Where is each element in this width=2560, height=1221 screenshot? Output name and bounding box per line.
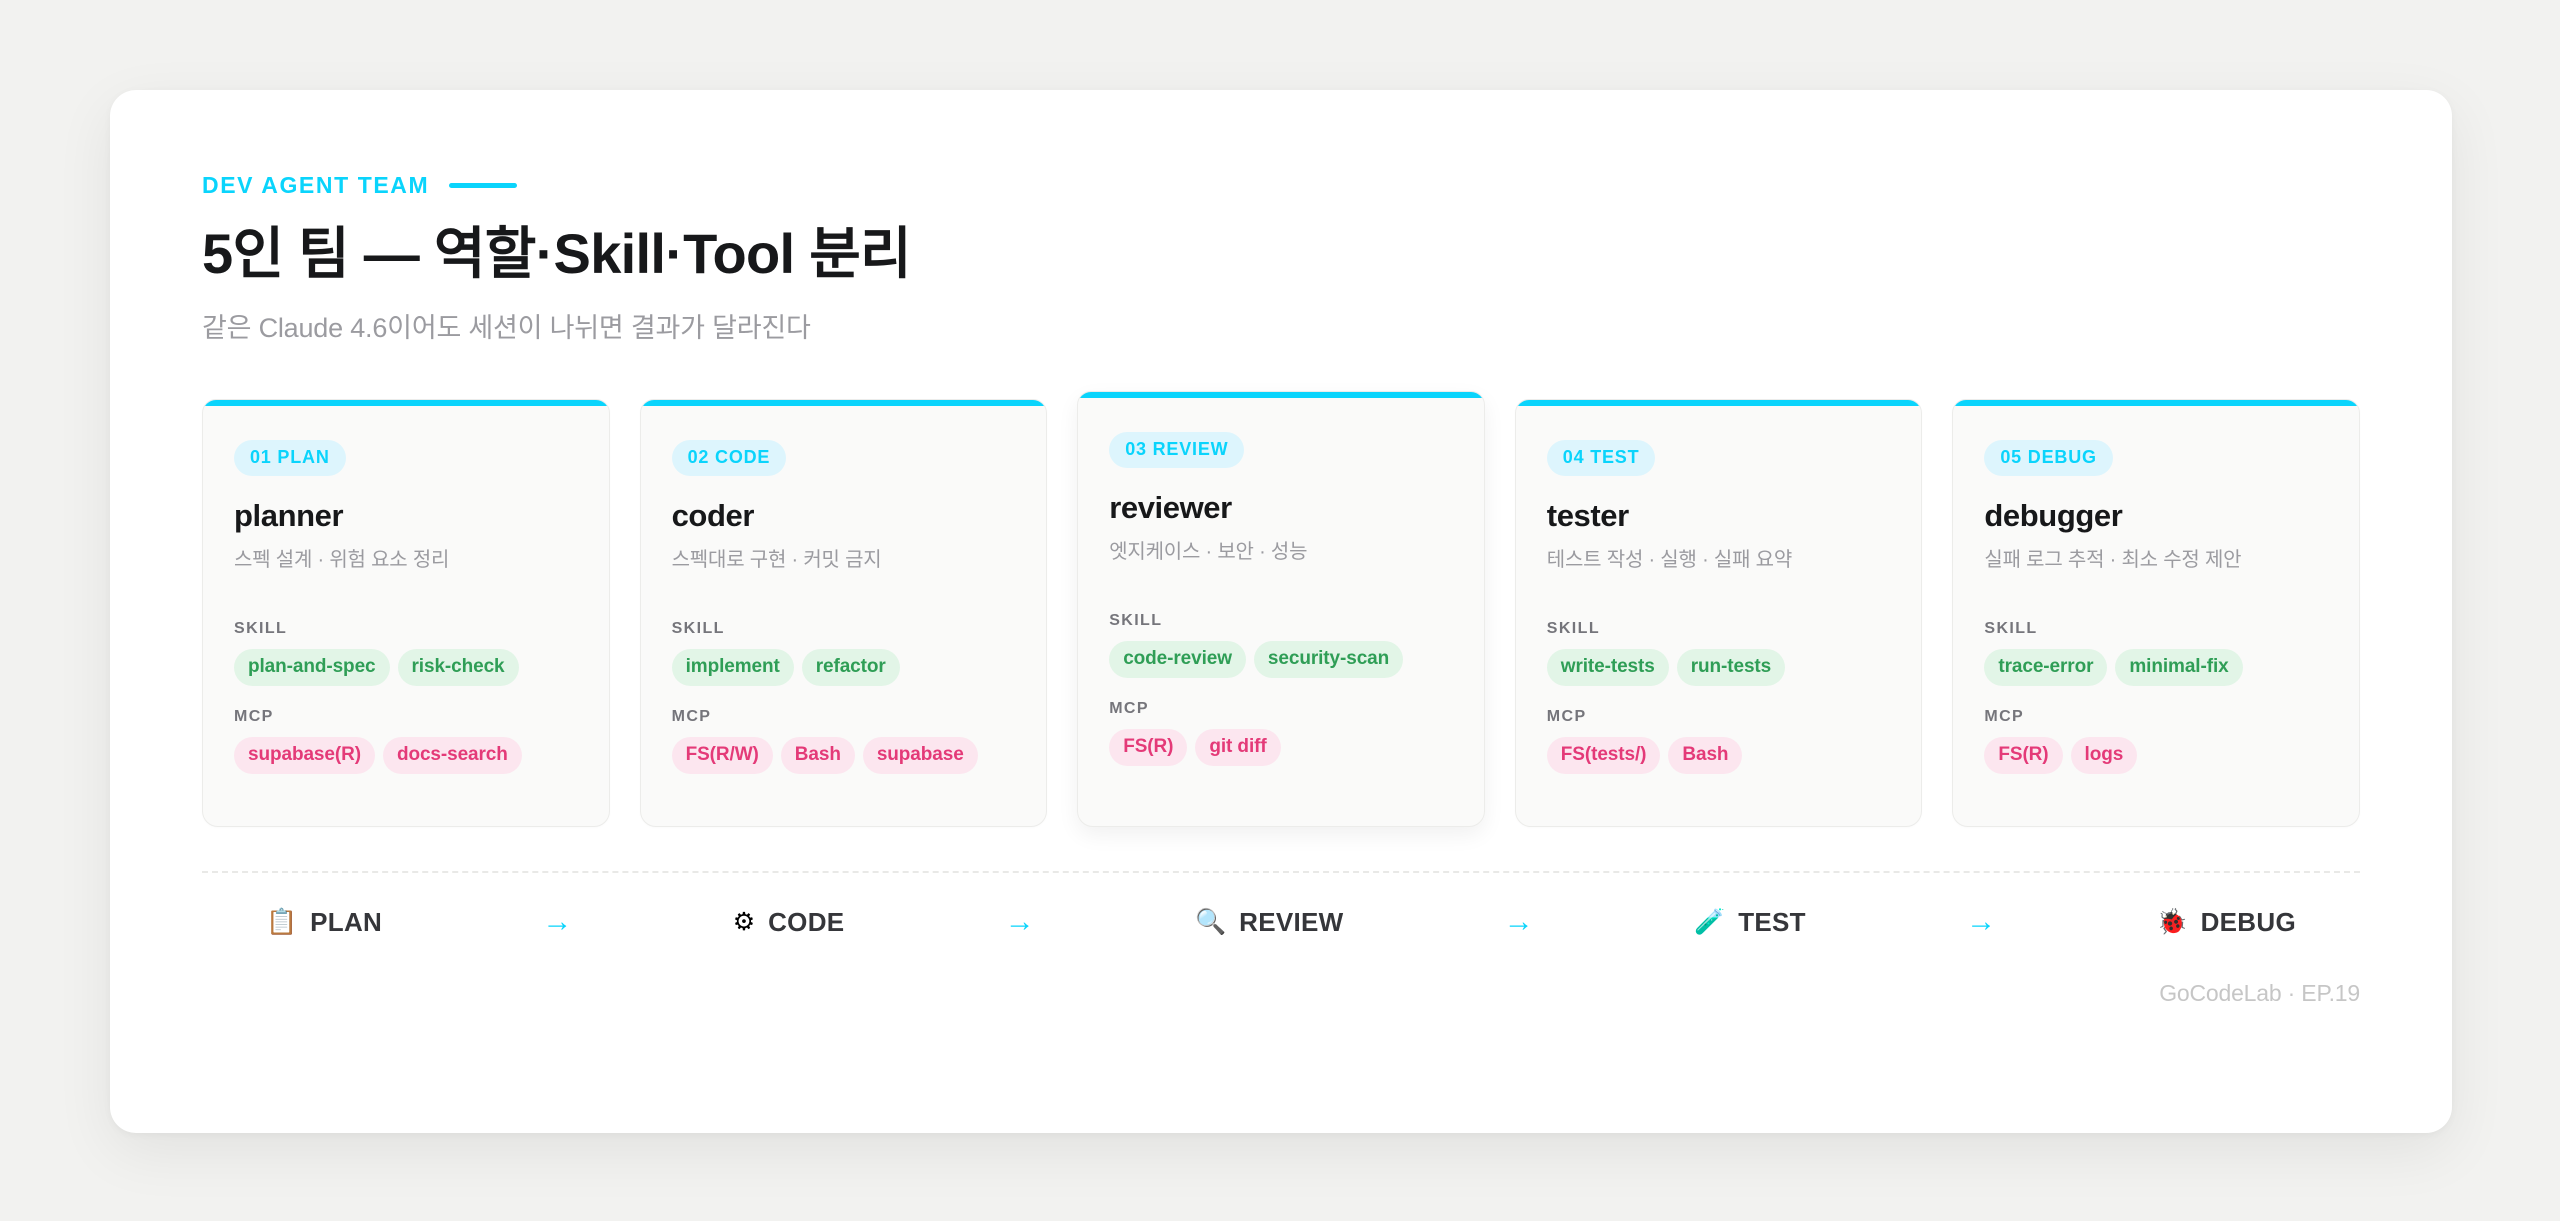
flow-step-debug[interactable]: 🐞 DEBUG (2156, 907, 2296, 938)
skill-section-label: SKILL (234, 620, 578, 638)
mcp-chip-group: FS(R) logs (1984, 737, 2328, 774)
card-badge: 04 TEST (1547, 440, 1656, 476)
mcp-chip[interactable]: FS(tests/) (1547, 737, 1661, 774)
arrow-right-icon: → (542, 907, 572, 937)
skill-chip-group: code-review security-scan (1109, 641, 1453, 678)
skill-chip-group: plan-and-spec risk-check (234, 649, 578, 686)
skill-section-label: SKILL (1984, 620, 2328, 638)
skill-chip-group: trace-error minimal-fix (1984, 649, 2328, 686)
skill-chip[interactable]: trace-error (1984, 649, 2107, 686)
role-card-reviewer[interactable]: 03 REVIEW reviewer 엣지케이스 · 보안 · 성능 SKILL… (1077, 391, 1485, 827)
slide-panel: DEV AGENT TEAM 5인 팀 — 역할·Skill·Tool 분리 같… (110, 90, 2452, 1133)
section-divider (202, 871, 2360, 873)
eyebrow-rule (449, 183, 517, 188)
card-body: 02 CODE coder 스펙대로 구현 · 커밋 금지 SKILL impl… (641, 406, 1047, 826)
card-role-desc: 스펙대로 구현 · 커밋 금지 (672, 543, 1016, 572)
gear-icon: ⚙ (733, 910, 755, 935)
mcp-chip[interactable]: git diff (1195, 729, 1280, 766)
page-title: 5인 팀 — 역할·Skill·Tool 분리 (202, 223, 2360, 286)
mcp-section-label: MCP (672, 708, 1016, 726)
role-card-tester[interactable]: 04 TEST tester 테스트 작성 · 실행 · 실패 요약 SKILL… (1515, 399, 1923, 827)
skill-chip[interactable]: code-review (1109, 641, 1246, 678)
mcp-chip[interactable]: docs-search (383, 737, 522, 774)
card-badge: 01 PLAN (234, 440, 346, 476)
flow-step-label: TEST (1738, 907, 1806, 938)
card-badge: 05 DEBUG (1984, 440, 2112, 476)
mcp-section-label: MCP (1984, 708, 2328, 726)
skill-chip[interactable]: write-tests (1547, 649, 1669, 686)
card-body: 05 DEBUG debugger 실패 로그 추적 · 최소 수정 제안 SK… (1953, 406, 2359, 826)
skill-chip[interactable]: implement (672, 649, 794, 686)
skill-chip[interactable]: minimal-fix (2115, 649, 2242, 686)
mcp-chip-group: FS(R/W) Bash supabase (672, 737, 1016, 774)
flow-step-plan[interactable]: 📋 PLAN (266, 907, 382, 938)
page-subtitle: 같은 Claude 4.6이어도 세션이 나뉘면 결과가 달라진다 (202, 306, 2360, 345)
card-role-desc: 테스트 작성 · 실행 · 실패 요약 (1547, 543, 1891, 572)
mcp-chip-group: FS(tests/) Bash (1547, 737, 1891, 774)
skill-chip[interactable]: security-scan (1254, 641, 1403, 678)
clipboard-icon: 📋 (266, 910, 297, 935)
eyebrow-label: DEV AGENT TEAM (202, 172, 429, 199)
card-badge: 02 CODE (672, 440, 787, 476)
mcp-chip[interactable]: FS(R) (1109, 729, 1187, 766)
card-role-desc: 실패 로그 추적 · 최소 수정 제안 (1984, 543, 2328, 572)
eyebrow-row: DEV AGENT TEAM (202, 172, 2360, 198)
role-card-list: 01 PLAN planner 스펙 설계 · 위험 요소 정리 SKILL p… (202, 399, 2360, 827)
skill-chip-group: write-tests run-tests (1547, 649, 1891, 686)
card-role-desc: 엣지케이스 · 보안 · 성능 (1109, 535, 1453, 564)
flow-step-review[interactable]: 🔍 REVIEW (1195, 907, 1344, 938)
arrow-right-icon: → (1504, 907, 1534, 937)
skill-section-label: SKILL (1547, 620, 1891, 638)
mcp-chip[interactable]: Bash (1668, 737, 1742, 774)
mcp-chip[interactable]: supabase(R) (234, 737, 375, 774)
magnifying-glass-icon: 🔍 (1195, 910, 1226, 935)
pipeline-flow-bar: 📋 PLAN → ⚙ CODE → 🔍 REVIEW → 🧪 TEST → 🐞 (202, 907, 2360, 938)
arrow-right-icon: → (1005, 907, 1035, 937)
test-tube-icon: 🧪 (1694, 910, 1725, 935)
skill-chip[interactable]: run-tests (1677, 649, 1785, 686)
skill-section-label: SKILL (672, 620, 1016, 638)
card-role-name: planner (234, 498, 578, 534)
card-role-desc: 스펙 설계 · 위험 요소 정리 (234, 543, 578, 572)
role-card-planner[interactable]: 01 PLAN planner 스펙 설계 · 위험 요소 정리 SKILL p… (202, 399, 610, 827)
card-body: 03 REVIEW reviewer 엣지케이스 · 보안 · 성능 SKILL… (1078, 398, 1484, 826)
mcp-chip-group: supabase(R) docs-search (234, 737, 578, 774)
card-role-name: tester (1547, 498, 1891, 534)
flow-step-test[interactable]: 🧪 TEST (1694, 907, 1806, 938)
card-badge: 03 REVIEW (1109, 432, 1244, 468)
card-role-name: reviewer (1109, 490, 1453, 526)
mcp-chip-group: FS(R) git diff (1109, 729, 1453, 766)
arrow-right-icon: → (1966, 907, 1996, 937)
flow-step-label: PLAN (310, 907, 382, 938)
flow-step-label: REVIEW (1239, 907, 1343, 938)
flow-step-label: DEBUG (2201, 907, 2296, 938)
mcp-chip[interactable]: logs (2071, 737, 2138, 774)
mcp-section-label: MCP (234, 708, 578, 726)
lady-beetle-icon: 🐞 (2156, 910, 2187, 935)
role-card-debugger[interactable]: 05 DEBUG debugger 실패 로그 추적 · 최소 수정 제안 SK… (1952, 399, 2360, 827)
skill-chip[interactable]: plan-and-spec (234, 649, 390, 686)
mcp-chip[interactable]: FS(R) (1984, 737, 2062, 774)
mcp-chip[interactable]: supabase (863, 737, 978, 774)
skill-chip[interactable]: refactor (802, 649, 900, 686)
flow-step-code[interactable]: ⚙ CODE (733, 907, 845, 938)
slide-stage: DEV AGENT TEAM 5인 팀 — 역할·Skill·Tool 분리 같… (0, 0, 2560, 1221)
card-role-name: coder (672, 498, 1016, 534)
skill-section-label: SKILL (1109, 612, 1453, 630)
mcp-chip[interactable]: FS(R/W) (672, 737, 773, 774)
card-role-name: debugger (1984, 498, 2328, 534)
mcp-section-label: MCP (1109, 700, 1453, 718)
role-card-coder[interactable]: 02 CODE coder 스펙대로 구현 · 커밋 금지 SKILL impl… (640, 399, 1048, 827)
skill-chip[interactable]: risk-check (398, 649, 519, 686)
footer-credit: GoCodeLab · EP.19 (202, 980, 2360, 1007)
card-body: 01 PLAN planner 스펙 설계 · 위험 요소 정리 SKILL p… (203, 406, 609, 826)
mcp-section-label: MCP (1547, 708, 1891, 726)
flow-step-label: CODE (768, 907, 844, 938)
card-body: 04 TEST tester 테스트 작성 · 실행 · 실패 요약 SKILL… (1516, 406, 1922, 826)
skill-chip-group: implement refactor (672, 649, 1016, 686)
mcp-chip[interactable]: Bash (781, 737, 855, 774)
